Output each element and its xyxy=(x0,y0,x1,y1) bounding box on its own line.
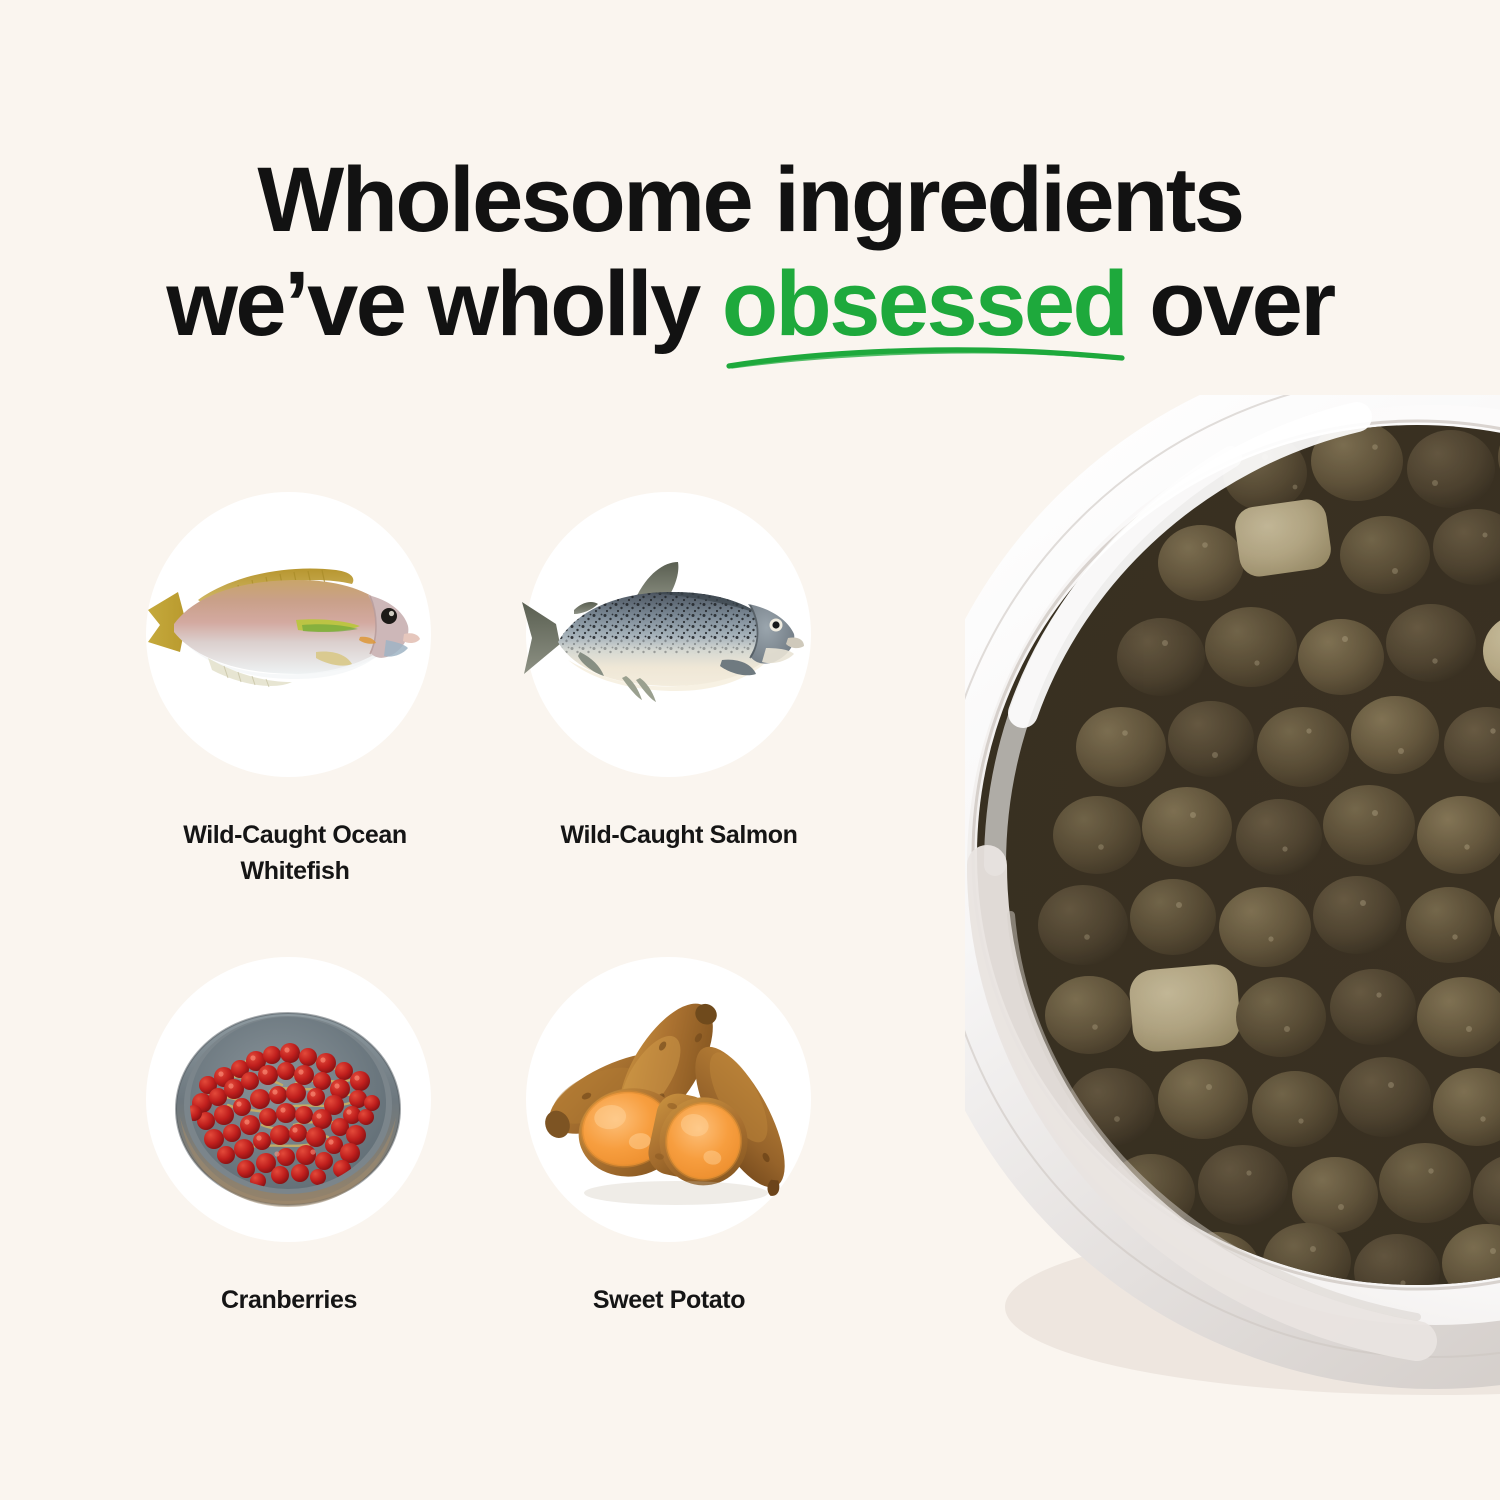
sweet-potato-photo xyxy=(526,957,811,1242)
ingredient-grid: Wild-Caught Ocean Whitefish xyxy=(140,492,900,1318)
ingredient-circle xyxy=(526,492,811,777)
ingredient-row-1: Wild-Caught Ocean Whitefish xyxy=(140,492,900,889)
ingredient-card-salmon[interactable]: Wild-Caught Salmon xyxy=(520,492,900,889)
headline-line-2-prefix: we’ve wholly xyxy=(166,253,721,355)
ingredient-infographic: Wholesome ingredients we’ve wholly obses… xyxy=(0,0,1500,1500)
ingredient-label-line-1: Wild-Caught Salmon xyxy=(560,821,797,849)
kibble-bowl-photo xyxy=(965,395,1500,1425)
ingredient-label: Sweet Potato xyxy=(504,1282,834,1318)
ingredient-label-line-1: Wild-Caught Ocean xyxy=(183,821,407,849)
headline-line-2-suffix: over xyxy=(1126,253,1333,355)
ingredient-row-2: Cranberries xyxy=(140,957,900,1318)
headline-line-2: we’ve wholly obsessed over xyxy=(0,252,1500,356)
ingredient-label-line-1: Sweet Potato xyxy=(593,1286,745,1314)
ingredient-card-sweet-potato[interactable]: Sweet Potato xyxy=(520,957,900,1318)
ingredient-label: Wild-Caught Ocean Whitefish xyxy=(130,817,460,889)
ingredient-label-line-2: Whitefish xyxy=(241,857,350,885)
ingredient-label: Wild-Caught Salmon xyxy=(514,817,844,853)
headline-line-1: Wholesome ingredients xyxy=(0,148,1500,252)
ingredient-card-cranberries[interactable]: Cranberries xyxy=(140,957,520,1318)
ingredient-circle xyxy=(146,492,431,777)
ingredient-circle xyxy=(146,957,431,1242)
kibble-bowl-graphic xyxy=(965,395,1500,1425)
ingredient-circle xyxy=(526,957,811,1242)
ingredient-label-line-1: Cranberries xyxy=(221,1286,357,1314)
salmon-photo xyxy=(526,492,811,777)
cranberries-photo xyxy=(146,957,431,1242)
ingredient-card-whitefish[interactable]: Wild-Caught Ocean Whitefish xyxy=(140,492,520,889)
whitefish-photo xyxy=(146,492,431,777)
page-headline: Wholesome ingredients we’ve wholly obses… xyxy=(0,148,1500,356)
headline-accent-word: obsessed xyxy=(722,253,1126,355)
ingredient-label: Cranberries xyxy=(124,1282,454,1318)
